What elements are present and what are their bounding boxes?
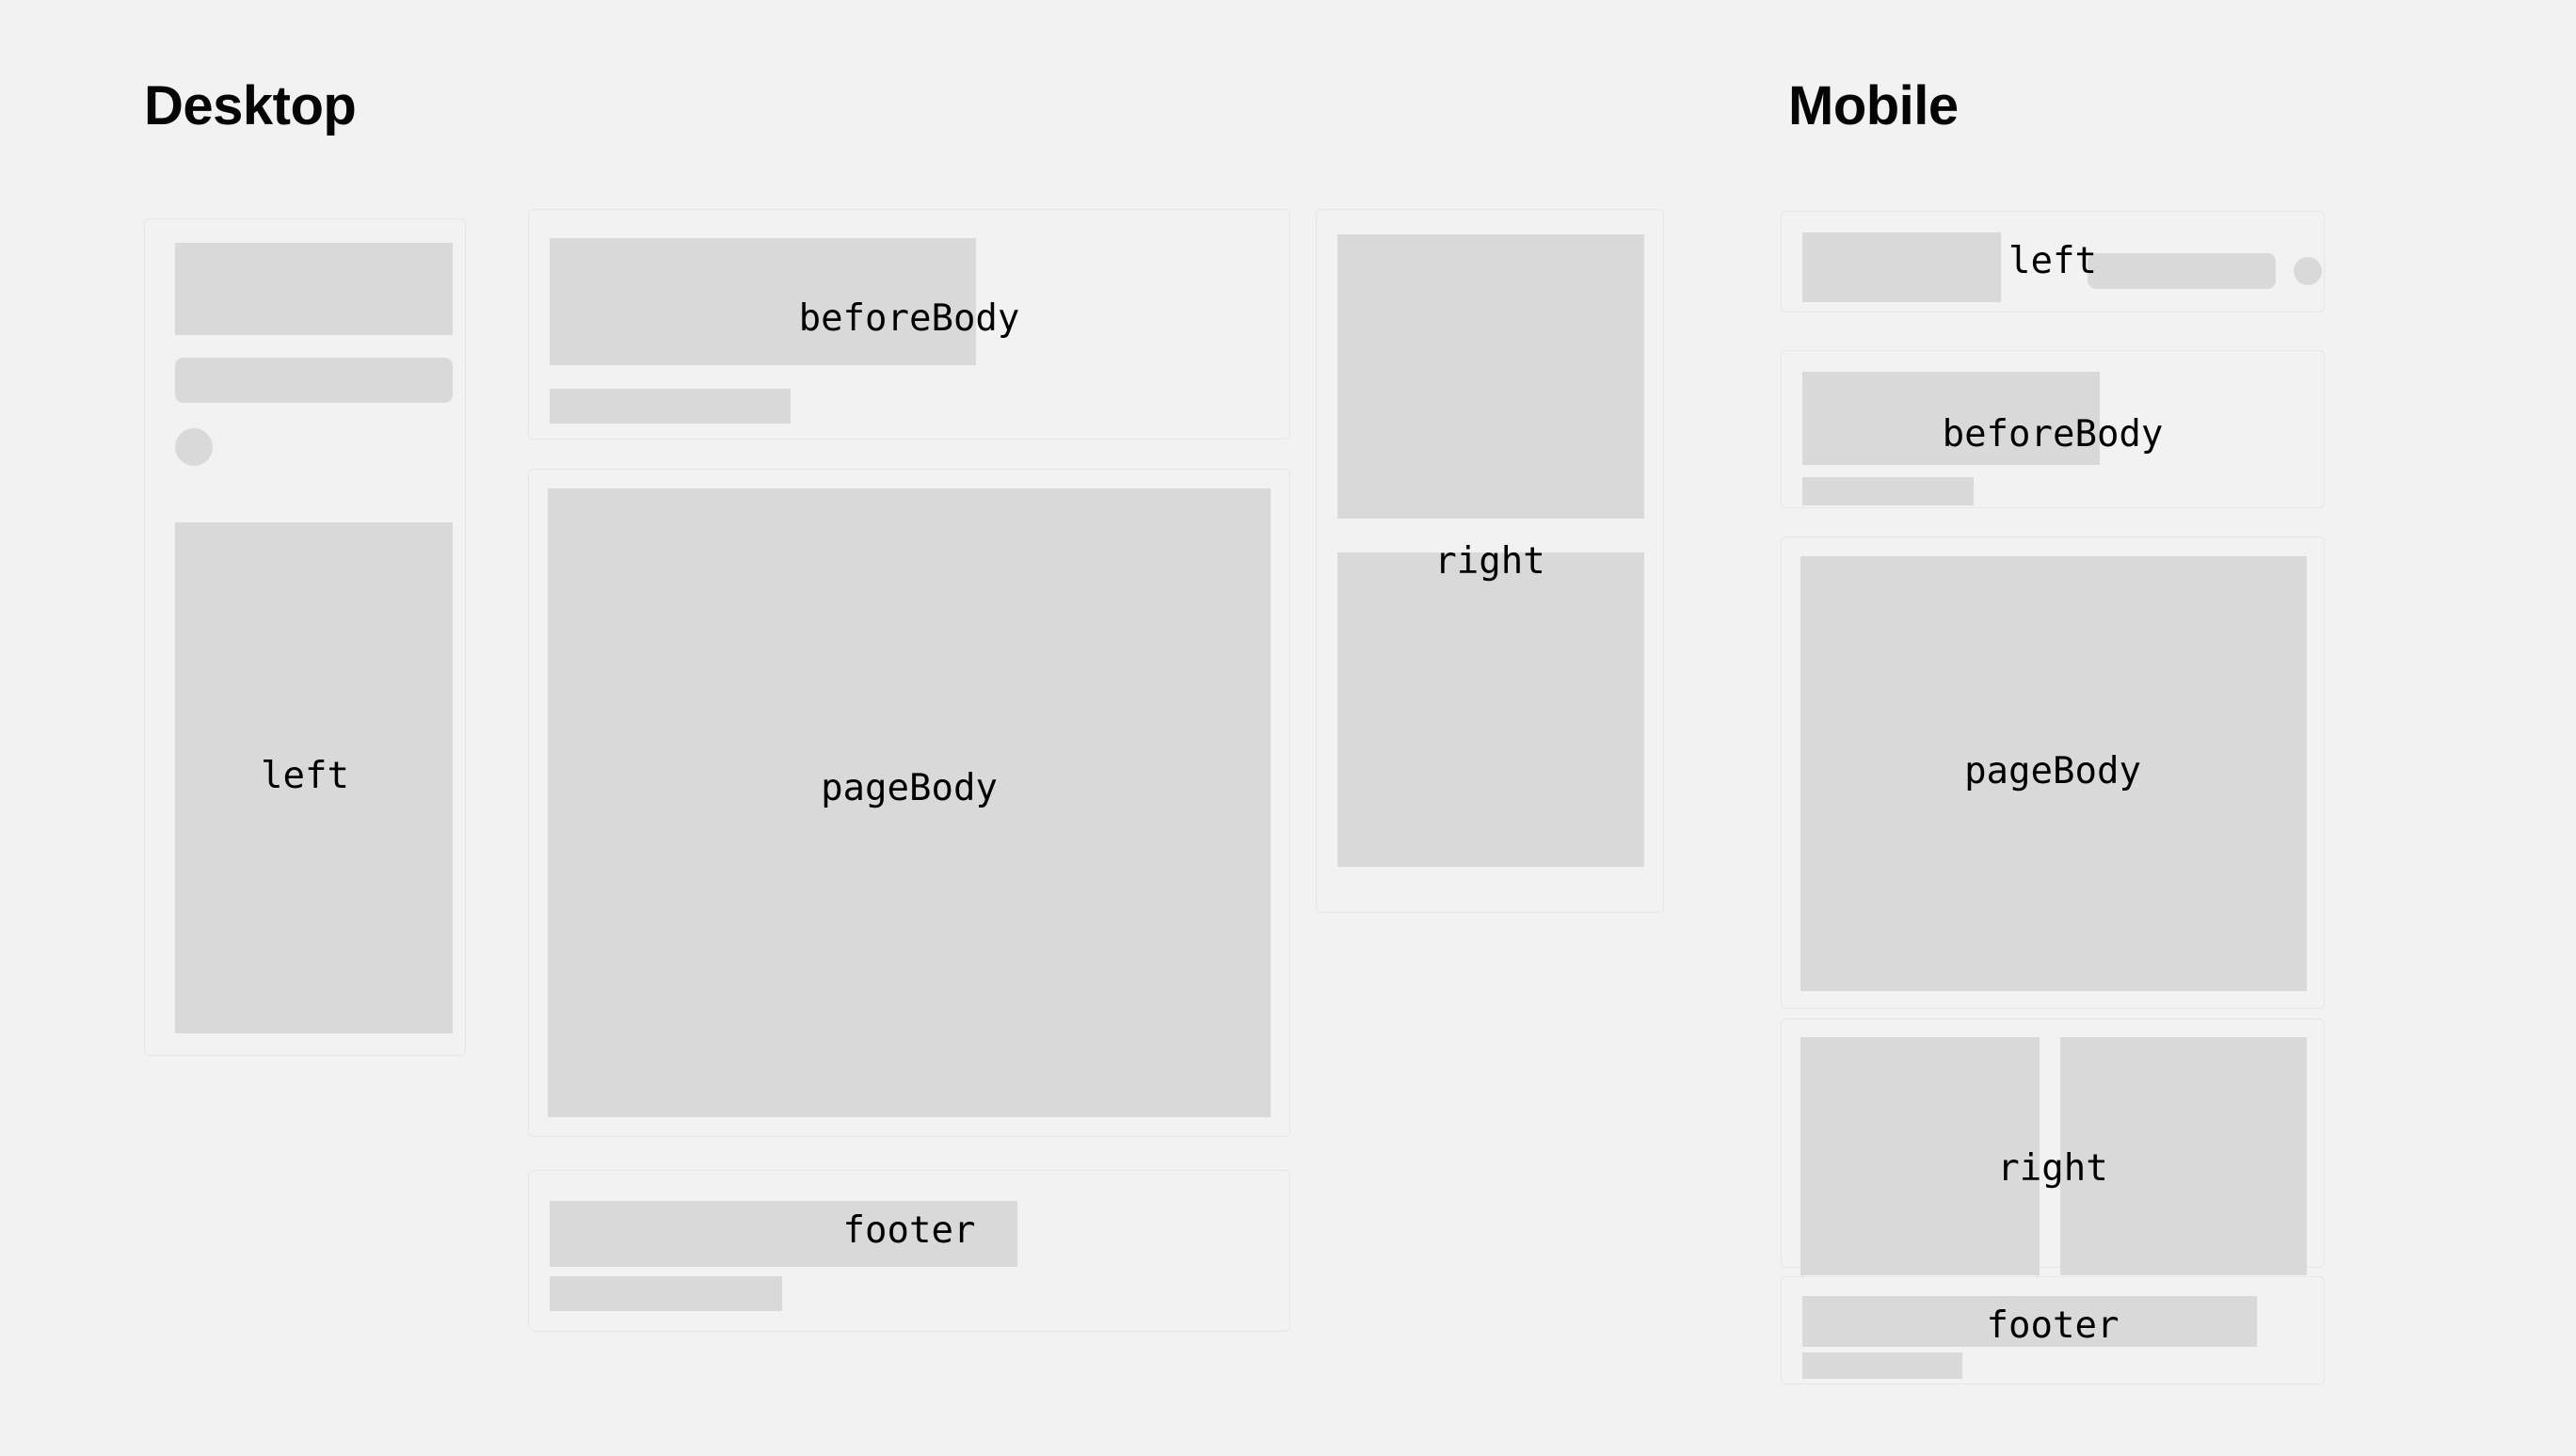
desktop-footer-region-label: footer: [528, 1212, 1290, 1249]
placeholder-panel: [1337, 234, 1644, 519]
mobile-left-region-label: left: [1781, 243, 2325, 280]
placeholder-bar: [1802, 477, 1974, 505]
desktop-section-title: Desktop: [144, 79, 356, 134]
mobile-pagebody-region-label: pageBody: [1781, 753, 2325, 790]
wireframe-canvas: Desktop Mobile left beforeBody pageBody …: [0, 0, 2576, 1456]
desktop-pagebody-region-label: pageBody: [528, 770, 1290, 807]
desktop-beforebody-region-label: beforeBody: [528, 300, 1290, 337]
desktop-right-region-label: right: [1316, 543, 1664, 580]
mobile-beforebody-region-label: beforeBody: [1781, 416, 2325, 453]
placeholder-bar: [550, 1276, 782, 1311]
mobile-right-region-label: right: [1781, 1150, 2325, 1187]
placeholder-bar: [175, 358, 453, 403]
placeholder-bar: [1802, 1352, 1962, 1379]
desktop-left-region-card[interactable]: left: [144, 218, 466, 1056]
placeholder-avatar-dot: [175, 428, 213, 466]
placeholder-panel: [1337, 552, 1644, 867]
placeholder-bar: [550, 389, 791, 424]
mobile-right-region-card[interactable]: [1781, 1018, 2325, 1268]
mobile-footer-region-label: footer: [1781, 1307, 2325, 1344]
placeholder-block: [175, 243, 453, 335]
desktop-left-region-label: left: [145, 758, 465, 794]
mobile-section-title: Mobile: [1788, 79, 1959, 134]
